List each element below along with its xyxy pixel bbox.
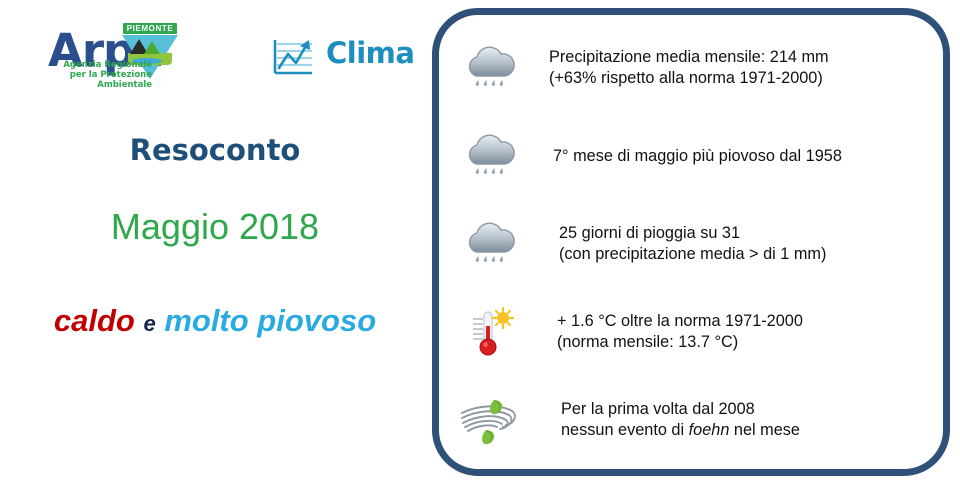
fact-text: Precipitazione media mensile: 214 mm (+6… [549, 47, 829, 89]
fact-text-post: nel mese [729, 421, 800, 439]
page-subtitle-month: Maggio 2018 [0, 206, 430, 248]
rain-cloud-icon [455, 128, 525, 184]
fact-text: 25 giorni di pioggia su 31 (con precipit… [559, 223, 826, 265]
rain-cloud-icon [455, 216, 525, 272]
rain-cloud-icon [455, 40, 525, 96]
tagline-conjunction: e [143, 311, 155, 336]
arpa-subtitle-line1: Agenzia Regionale [48, 60, 152, 70]
fact-row: 7° mese di maggio più piovoso dal 1958 [455, 125, 929, 187]
left-column: Arpa PIEMONTE Agenzia Regionale per la P… [0, 0, 430, 493]
tagline-hot-word: caldo [54, 303, 135, 338]
summary-panel: Precipitazione media mensile: 214 mm (+6… [432, 8, 950, 476]
clima-label: Clima [326, 36, 414, 70]
chart-trend-icon [272, 38, 316, 76]
fact-row: Precipitazione media mensile: 214 mm (+6… [455, 37, 929, 99]
tagline-rain-word: molto piovoso [164, 303, 376, 338]
fact-text: Per la prima volta dal 2008 nessun event… [561, 399, 800, 441]
arpa-subtitle-line2: per la Protezione Ambientale [48, 70, 152, 90]
fact-row: + 1.6 °C oltre la norma 1971-2000 (norma… [455, 301, 929, 363]
thermometer-sun-icon [455, 304, 525, 360]
page-title: Resoconto [0, 133, 430, 167]
arpa-mountain-green-shape [144, 41, 160, 54]
wind-leaves-icon [455, 392, 525, 448]
fact-row: Per la prima volta dal 2008 nessun event… [455, 389, 929, 451]
fact-text: 7° mese di maggio più piovoso dal 1958 [553, 146, 842, 167]
slide-canvas: Arpa PIEMONTE Agenzia Regionale per la P… [0, 0, 960, 493]
page-tagline: caldo e molto piovoso [0, 303, 430, 339]
clima-logo: Clima [272, 36, 407, 82]
fact-row: 25 giorni di pioggia su 31 (con precipit… [455, 213, 929, 275]
arpa-subtitle: Agenzia Regionale per la Protezione Ambi… [48, 60, 152, 90]
summary-panel-body: Precipitazione media mensile: 214 mm (+6… [439, 15, 943, 469]
fact-text: + 1.6 °C oltre la norma 1971-2000 (norma… [557, 311, 803, 353]
fact-text-emphasis: foehn [689, 421, 730, 439]
arpa-piemonte-badge: PIEMONTE [122, 22, 178, 35]
